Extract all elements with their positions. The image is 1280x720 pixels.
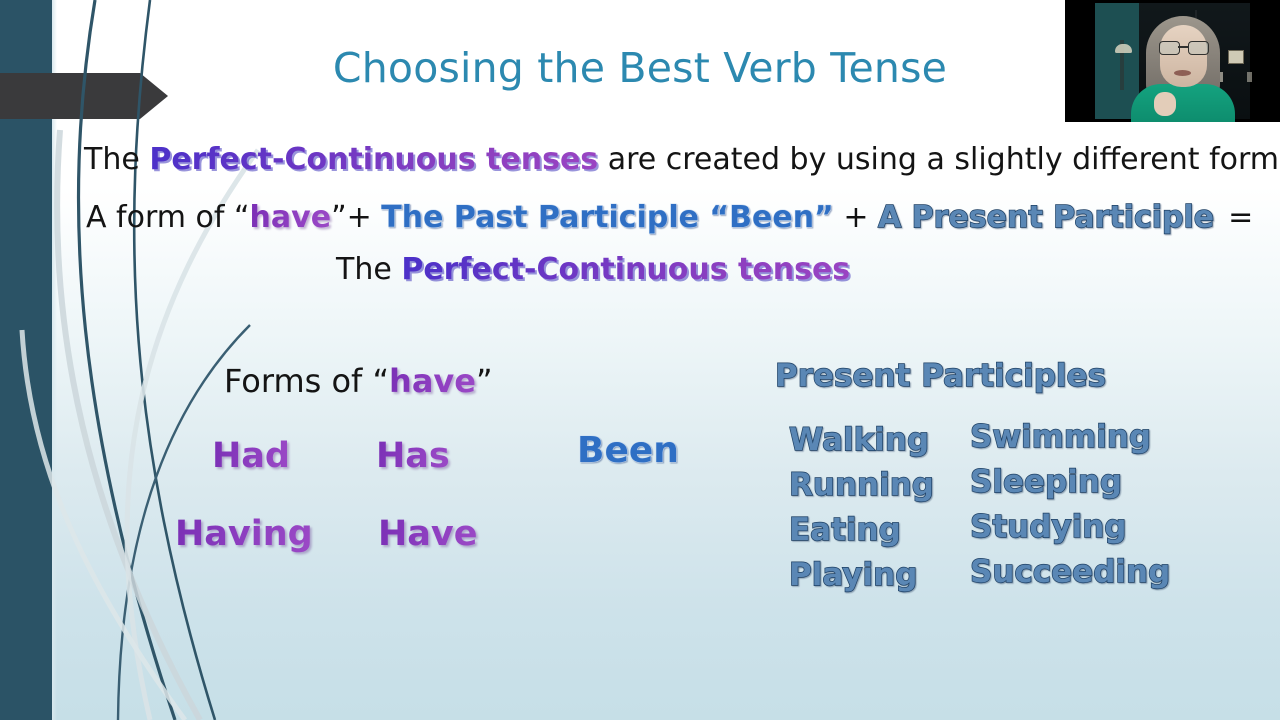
formula-equals-sign: = [1228,200,1253,235]
past-participle-been: Been [577,430,679,471]
line1-emphasis: Perfect-Continuous tenses [149,142,598,177]
webcam-presenter-shirt [1131,84,1235,122]
webcam-wall-sconce [1115,44,1132,53]
body-line-3-result: The Perfect-Continuous tenses [336,252,850,287]
line1-after: are created by using a slightly differen… [598,142,1280,177]
have-form-having: Having [175,514,313,554]
participle-item: Playing [789,553,934,598]
have-form-has: Has [376,436,450,476]
participle-item: Walking [789,418,934,463]
formula-present-participle: A Present Participle [878,200,1214,235]
forms-of-have-heading: Forms of “have” [224,362,493,400]
have-form-had: Had [212,436,290,476]
line3-before: The [336,252,401,287]
participle-item: Studying [970,505,1170,550]
presenter-webcam-overlay[interactable] [1065,0,1280,122]
webcam-presenter-hand [1154,92,1176,116]
webcam-wall-picture [1228,50,1244,64]
webcam-light-switch-right [1247,72,1252,82]
present-participles-column-1: Walking Running Eating Playing [789,418,934,598]
glasses-lens-left [1159,41,1180,55]
participle-item: Eating [789,508,934,553]
presentation-slide: Choosing the Best Verb Tense The Perfect… [0,0,1280,720]
participle-item: Succeeding [970,550,1170,595]
formula-prefix: A form of “ [86,200,250,235]
body-line-2-formula: A form of “have”+ The Past Participle “B… [86,200,1253,235]
present-participles-heading: Present Participles [775,358,1106,394]
webcam-presenter-face [1160,25,1207,87]
have-form-have: Have [378,514,477,554]
webcam-presenter-glasses [1159,41,1208,53]
line3-emphasis: Perfect-Continuous tenses [401,252,850,287]
participle-item: Running [789,463,934,508]
participle-item: Swimming [970,415,1170,460]
forms-heading-word: have [389,362,476,400]
present-participles-column-2: Swimming Sleeping Studying Succeeding [970,415,1170,595]
forms-heading-after: ” [476,362,493,400]
webcam-presenter-mouth [1174,70,1191,76]
formula-plus-2: + [834,200,878,235]
forms-heading-before: Forms of “ [224,362,389,400]
glasses-lens-right [1188,41,1209,55]
line1-before: The [84,142,149,177]
formula-past-participle: The Past Participle “Been” [381,200,834,235]
formula-plus-1: ”+ [331,200,381,235]
participle-item: Sleeping [970,460,1170,505]
formula-have-word: have [250,200,332,235]
body-line-1: The Perfect-Continuous tenses are create… [84,142,1280,177]
